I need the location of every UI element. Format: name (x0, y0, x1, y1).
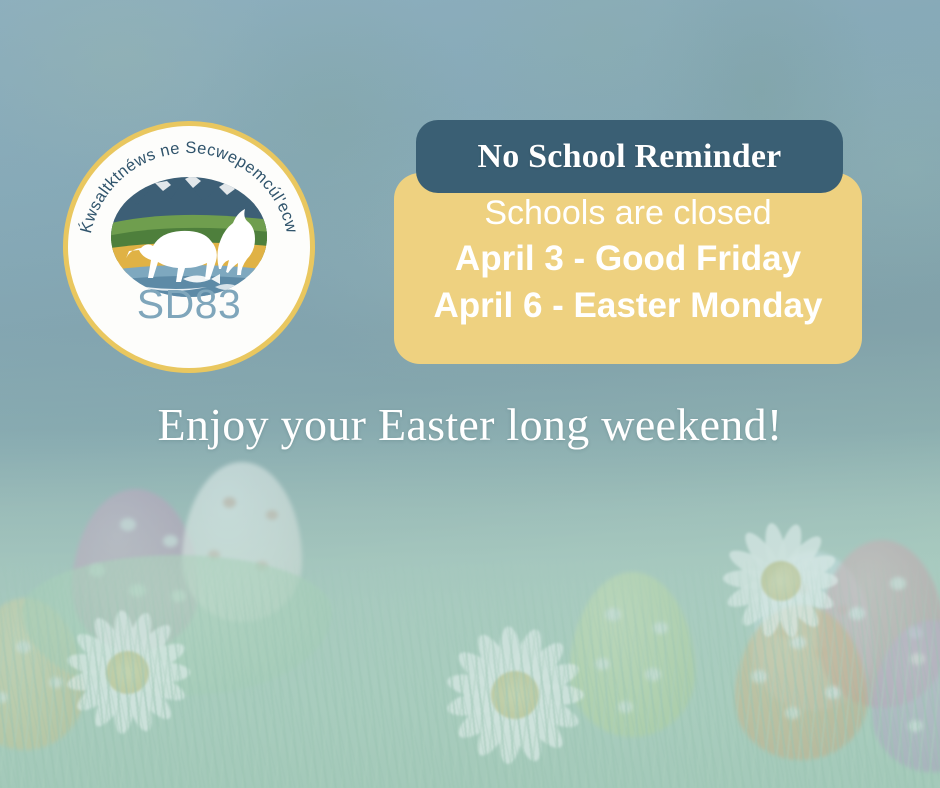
sd83-logo[interactable]: Ḱwsaltktnéws ne Secwepemcúl'ecw SD83 (63, 121, 315, 373)
closure-date-easter-monday: April 6 - Easter Monday (394, 281, 862, 328)
easter-no-school-poster: Ḱwsaltktnéws ne Secwepemcúl'ecw SD83 Sch… (0, 0, 940, 788)
reminder-banner-title: No School Reminder (478, 138, 782, 176)
reminder-banner: No School Reminder (416, 120, 843, 193)
logo-artwork: Ḱwsaltktnéws ne Secwepemcúl'ecw (63, 121, 315, 373)
closure-info-card: Schools are closed April 3 - Good Friday… (394, 173, 862, 364)
closure-date-good-friday: April 3 - Good Friday (394, 234, 862, 281)
logo-abbreviation: SD83 (63, 281, 315, 328)
tagline: Enjoy your Easter long weekend! (0, 398, 940, 451)
grass-blades (0, 558, 940, 788)
